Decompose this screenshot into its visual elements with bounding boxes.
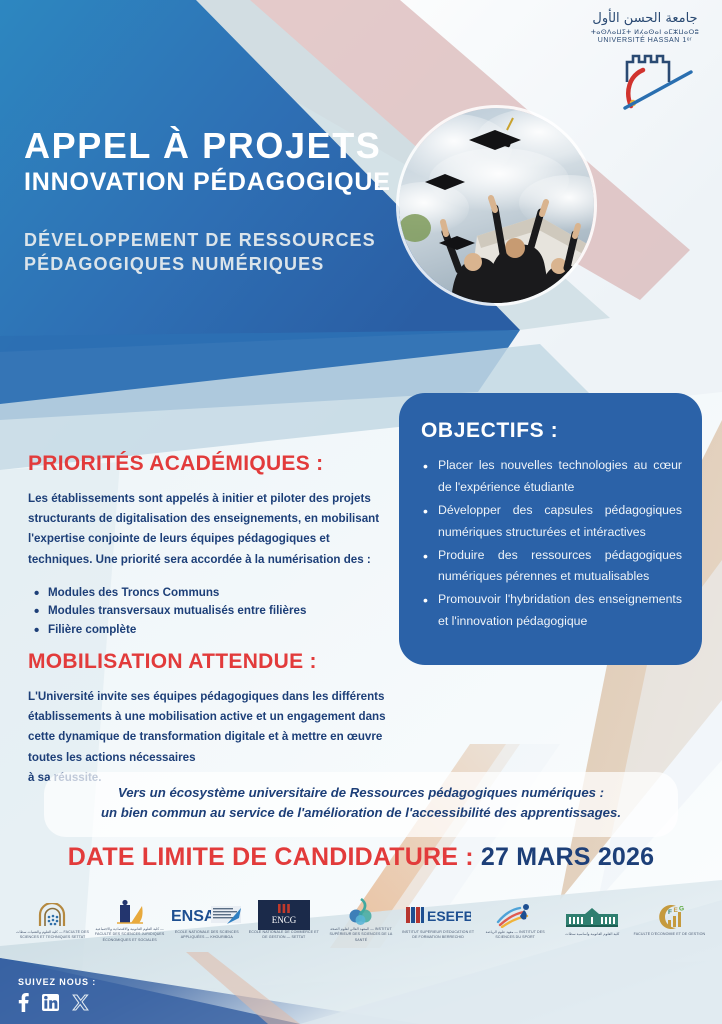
feg-crescent-logo-icon: F E G [652, 904, 686, 930]
svg-text:E: E [674, 907, 679, 914]
priorites-section: PRIORITÉS ACADÉMIQUES : Les établissemen… [28, 452, 388, 640]
building-colonnade-logo-icon [565, 904, 619, 930]
partner-logo-issante: المعهد العالي لعلوم الصحة — INSTITUT SUP… [322, 896, 399, 946]
list-item: Modules des Troncs Communs [28, 584, 388, 603]
theme-text: DÉVELOPPEMENT DE RESSOURCES PÉDAGOGIQUES… [24, 229, 391, 277]
partner-caption: كلية العلوم القانونية وأساسية سطات [555, 932, 629, 937]
poster-root: جامعة الحسن الأول ⵜⴰⵙⴷⴰⵡⵉⵜ ⵍⵃⴰⵙⴰⵏ ⴰⵎⵣⵡⴰⵔ… [0, 0, 722, 1024]
partner-caption: كلية العلوم القانونية والاقتصادية والاجت… [93, 927, 167, 943]
deadline-line: DATE LIMITE DE CANDIDATURE : 27 MARS 202… [0, 843, 722, 872]
mobilisation-body: L'Université invite ses équipes pédagogi… [28, 687, 388, 768]
footer: SUIVEZ NOUS : [18, 977, 96, 1012]
partner-caption: INSTITUT SUPÉRIEUR D'ÉDUCATION ET DE FOR… [401, 930, 475, 940]
partner-logo-esefb: ESEFB INSTITUT SUPÉRIEUR D'ÉDUCATION ET … [400, 896, 477, 946]
partner-logo-fst-settat: كلية العلوم والتقنيات سطات — FACULTÉ DES… [14, 896, 91, 946]
partner-logo-iss: معهد علوم الرياضة — INSTITUT DES SCIENCE… [477, 896, 554, 946]
arch-dome-logo-icon [36, 902, 70, 928]
list-item: Promouvoir l'hybridation des enseignemen… [421, 589, 682, 633]
objectifs-card: OBJECTIFS : Placer les nouvelles technol… [399, 393, 702, 665]
tagline-banner: Vers un écosystème universitaire de Ress… [44, 772, 678, 837]
logo-tifinagh-text: ⵜⴰⵙⴷⴰⵡⵉⵜ ⵍⵃⴰⵙⴰⵏ ⴰⵎⵣⵡⴰⵔⵓ [586, 28, 704, 36]
headline-block: APPEL À PROJETS INNOVATION PÉDAGOGIQUE D… [24, 128, 391, 276]
partner-logo-ensa: ENSA ÉCOLE NATIONALE DES SCIENCES APPLIQ… [168, 896, 245, 946]
objectifs-title: OBJECTIFS : [421, 419, 682, 443]
partner-logo-encg: ENCG ÉCOLE NATIONALE DE COMMERCE ET DE G… [245, 896, 322, 946]
runner-logo-icon [495, 902, 535, 928]
deadline-label: DATE LIMITE DE CANDIDATURE : [68, 843, 481, 871]
partner-caption: ÉCOLE NATIONALE DE COMMERCE ET DE GESTIO… [247, 930, 321, 940]
list-item: Placer les nouvelles technologies au cœu… [421, 455, 682, 499]
list-item: Produire des ressources pédagogiques num… [421, 545, 682, 589]
priorites-bullets: Modules des Troncs Communs Modules trans… [28, 584, 388, 640]
linkedin-icon[interactable] [42, 994, 59, 1011]
partner-caption: معهد علوم الرياضة — INSTITUT DES SCIENCE… [478, 930, 552, 940]
tagline-line-2: un bien commun au service de l'améliorat… [62, 803, 660, 823]
list-item: Filière complète [28, 621, 388, 640]
priorites-title: PRIORITÉS ACADÉMIQUES : [28, 452, 388, 476]
partner-logo-feg: F E G FACULTÉ D'ÉCONOMIE ET DE GESTION [631, 896, 708, 946]
kasbah-tower-logo-icon [586, 48, 704, 110]
svg-text:F: F [668, 909, 672, 916]
facebook-icon[interactable] [18, 993, 29, 1012]
partner-logo-fsjes: كلية العلوم القانونية والاقتصادية والاجت… [91, 896, 168, 946]
university-logo: جامعة الحسن الأول ⵜⴰⵙⴷⴰⵡⵉⵜ ⵍⵃⴰⵙⴰⵏ ⴰⵎⵣⵡⴰⵔ… [586, 12, 704, 110]
health-leaf-logo-icon [346, 899, 376, 925]
theme-line-2: PÉDAGOGIQUES NUMÉRIQUES [24, 253, 391, 277]
deadline-value: 27 MARS 2026 [481, 843, 654, 871]
book-person-logo-icon [114, 899, 146, 925]
follow-us-label: SUIVEZ NOUS : [18, 977, 96, 987]
list-item: Modules transversaux mutualisés entre fi… [28, 602, 388, 621]
x-twitter-icon[interactable] [72, 994, 89, 1011]
graduates-photo [399, 108, 594, 303]
partner-caption: ÉCOLE NATIONALE DES SCIENCES APPLIQUÉES … [170, 930, 244, 940]
partner-caption: FACULTÉ D'ÉCONOMIE ET DE GESTION [632, 932, 706, 937]
logo-french-text: UNIVERSITÉ HASSAN 1ᵉʳ [586, 37, 704, 44]
mobilisation-section: MOBILISATION ATTENDUE : L'Université inv… [28, 650, 388, 788]
priorites-body: Les établissements sont appelés à initie… [28, 489, 388, 570]
svg-text:ESEFB: ESEFB [427, 908, 471, 924]
list-item: Développer des capsules pédagogiques num… [421, 500, 682, 544]
partner-caption: المعهد العالي لعلوم الصحة — INSTITUT SUP… [324, 927, 398, 943]
partner-logo-strip: كلية العلوم والتقنيات سطات — FACULTÉ DES… [0, 893, 722, 949]
partner-logo-fsjes-2: كلية العلوم القانونية وأساسية سطات [554, 896, 631, 946]
objectifs-list: Placer les nouvelles technologies au cœu… [421, 455, 682, 633]
mobilisation-title: MOBILISATION ATTENDUE : [28, 650, 388, 674]
theme-line-1: DÉVELOPPEMENT DE RESSOURCES [24, 229, 391, 253]
svg-text:ENCG: ENCG [272, 915, 297, 925]
page-subtitle: INNOVATION PÉDAGOGIQUE [24, 169, 391, 195]
encg-badge-logo-icon: ENCG [258, 902, 310, 928]
ensa-arrow-logo-icon: ENSA [171, 902, 243, 928]
svg-text:G: G [679, 906, 684, 913]
page-title: APPEL À PROJETS [24, 128, 391, 165]
logo-arabic-text: جامعة الحسن الأول [586, 12, 704, 26]
svg-text:ENSA: ENSA [171, 908, 216, 925]
partner-caption: كلية العلوم والتقنيات سطات — FACULTÉ DES… [16, 930, 90, 940]
social-links [18, 993, 96, 1012]
tagline-line-1: Vers un écosystème universitaire de Ress… [62, 783, 660, 803]
books-logo-icon: ESEFB [405, 902, 471, 928]
